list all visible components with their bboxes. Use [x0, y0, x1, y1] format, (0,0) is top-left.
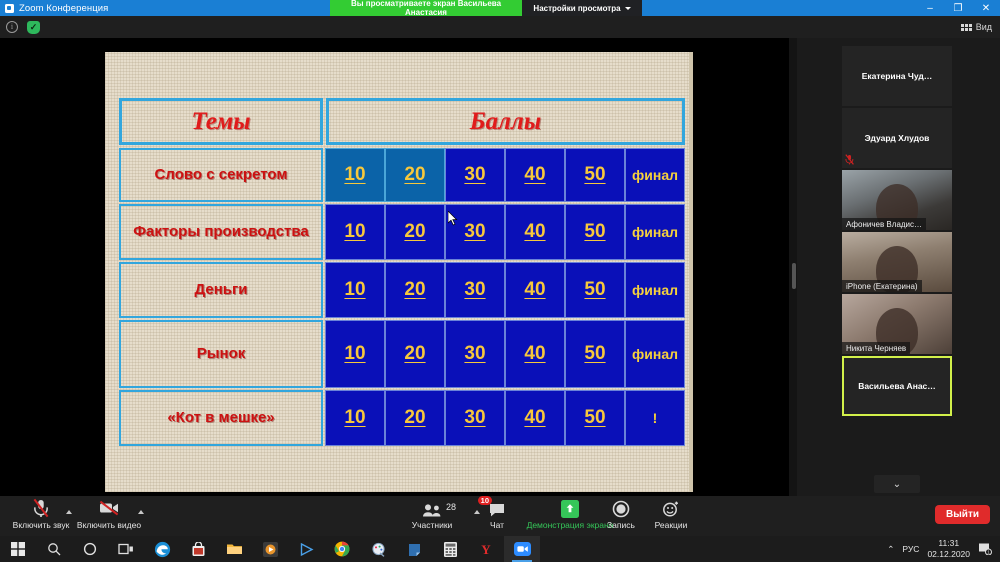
points-cell[interactable]: 50 [565, 320, 625, 388]
window-controls: – ❐ ✕ [916, 0, 1000, 16]
cell-value: 10 [344, 164, 365, 186]
points-cell[interactable]: 10 [325, 148, 385, 202]
cell-value: 20 [404, 221, 425, 243]
cell-value: 30 [464, 407, 485, 429]
cell-value: 20 [404, 407, 425, 429]
theme-cell[interactable]: Слово с секретом [119, 148, 323, 202]
participant-name: Эдуард Хлудов [842, 108, 952, 168]
view-options-button[interactable]: Настройки просмотра [522, 0, 642, 16]
close-button[interactable]: ✕ [972, 0, 1000, 16]
theme-cell[interactable]: Деньги [119, 262, 323, 318]
cell-value: 50 [584, 279, 605, 301]
chat-label: Чат [490, 520, 504, 530]
grid-view-icon [961, 24, 972, 31]
cell-value: 50 [584, 407, 605, 429]
media-player-icon[interactable] [252, 536, 288, 562]
restore-button[interactable]: ❐ [944, 0, 972, 16]
clock-time: 11:31 [938, 538, 959, 549]
system-tray: ⌃ РУС 11:31 02.12.2020 1 [887, 538, 1000, 560]
points-cell[interactable]: 20 [385, 262, 445, 318]
leave-meeting-button[interactable]: Выйти [935, 505, 990, 524]
participant-tile[interactable]: Васильева Анас… [842, 356, 952, 416]
svg-text:Y: Y [481, 542, 491, 557]
view-options-label: Настройки просмотра [533, 4, 620, 13]
view-button[interactable]: Вид [961, 22, 992, 32]
zoom-icon[interactable] [504, 536, 540, 562]
window-title-bar: Zoom Конференция Вы просматриваете экран… [0, 0, 1000, 16]
view-button-label: Вид [976, 22, 992, 32]
cell-value: 30 [464, 343, 485, 365]
zoom-meeting-window: Zoom Конференция Вы просматриваете экран… [0, 0, 1000, 562]
cell-value: 20 [404, 164, 425, 186]
participant-video-panel: Екатерина Чуд…Эдуард ХлудовАфоничев Влад… [797, 38, 1000, 496]
points-cell[interactable]: 10 [325, 320, 385, 388]
participants-label: Участники [412, 520, 453, 530]
encryption-shield-icon[interactable] [27, 21, 40, 34]
window-title: Zoom Конференция [19, 3, 108, 14]
cell-value: 30 [464, 279, 485, 301]
participant-name: Афоничев Владис… [842, 218, 926, 230]
participant-tile[interactable]: Никита Черняев [842, 294, 952, 354]
cell-value: 40 [524, 221, 545, 243]
participant-tile[interactable]: Афоничев Владис… [842, 170, 952, 230]
board-row: Слово с секретом1020304050финал [119, 148, 685, 202]
cell-value: 50 [584, 221, 605, 243]
chevron-down-icon [625, 7, 631, 10]
screen-share-banner: Вы просматриваете экран Васильева Анаста… [330, 0, 522, 16]
start-icon[interactable] [0, 536, 36, 562]
cell-value: 30 [464, 164, 485, 186]
points-cell[interactable]: 50 [565, 204, 625, 260]
participants-button[interactable]: 28 Участники [395, 498, 469, 530]
cell-value: финал [632, 224, 678, 240]
edge-icon[interactable] [144, 536, 180, 562]
points-cell[interactable]: 50 [565, 390, 625, 446]
points-cell[interactable]: 30 [445, 262, 505, 318]
share-screen-icon [561, 498, 579, 518]
participant-tile[interactable]: Эдуард Хлудов [842, 108, 952, 168]
theme-cell[interactable]: «Кот в мешке» [119, 390, 323, 446]
participant-name: Екатерина Чуд… [842, 46, 952, 106]
meeting-sub-bar: i Вид [0, 16, 1000, 38]
reactions-label: Реакции [655, 520, 688, 530]
cell-value: 10 [344, 221, 365, 243]
unmute-label: Включить звук [13, 520, 70, 530]
header-themes: Темы [119, 98, 323, 145]
zoom-app-icon [5, 4, 14, 13]
meeting-toolbar: Включить звук Включить видео 28 Участник… [0, 496, 1000, 536]
mic-muted-icon [32, 498, 50, 518]
store-icon[interactable] [180, 536, 216, 562]
calculator-icon[interactable] [432, 536, 468, 562]
cell-value: финал [632, 282, 678, 298]
cell-value: 30 [464, 221, 485, 243]
final-cell[interactable]: финал [625, 204, 685, 260]
unmute-button[interactable]: Включить звук [4, 498, 78, 530]
yandex-icon[interactable]: Y [468, 536, 504, 562]
cell-value: 20 [404, 343, 425, 365]
participant-name: iPhone (Екатерина) [842, 280, 922, 292]
theme-cell[interactable]: Рынок [119, 320, 323, 388]
participant-name: Васильева Анас… [842, 356, 952, 416]
cortana-icon[interactable] [72, 536, 108, 562]
cell-value: финал [632, 167, 678, 183]
windows-taskbar: Y ⌃ РУС 11:31 02.12.2020 1 [0, 536, 1000, 562]
chat-unread-badge: 10 [478, 496, 492, 505]
camera-off-icon [98, 498, 120, 518]
start-video-button[interactable]: Включить видео [72, 498, 146, 530]
points-cell[interactable]: 10 [325, 204, 385, 260]
file-explorer-icon[interactable] [216, 536, 252, 562]
cell-value: 50 [584, 343, 605, 365]
cell-value: 40 [524, 343, 545, 365]
panel-scroll-down-button[interactable]: ⌄ [874, 475, 920, 493]
record-icon [612, 498, 630, 518]
panel-resize-handle[interactable] [789, 38, 797, 496]
shared-screen-area[interactable]: Темы Баллы Слово с секретом1020304050фин… [0, 38, 790, 496]
board-header-row: Темы Баллы [119, 98, 685, 145]
cell-value: ! [653, 410, 658, 426]
cell-value: 20 [404, 279, 425, 301]
header-points: Баллы [326, 98, 685, 145]
sticky-notes-icon[interactable] [396, 536, 432, 562]
movies-tv-icon[interactable] [288, 536, 324, 562]
mic-muted-icon [845, 154, 854, 165]
board-row: Рынок1020304050финал [119, 320, 685, 388]
presentation-slide: Темы Баллы Слово с секретом1020304050фин… [105, 52, 693, 492]
cell-value: 10 [344, 343, 365, 365]
participants-count: 28 [446, 502, 456, 512]
points-cell[interactable]: 40 [505, 320, 565, 388]
points-cell[interactable]: 40 [505, 262, 565, 318]
theme-cell[interactable]: Факторы производства [119, 204, 323, 260]
reactions-icon [662, 498, 680, 518]
points-cell[interactable]: 40 [505, 390, 565, 446]
points-cell[interactable]: 40 [505, 148, 565, 202]
points-cell[interactable]: 30 [445, 320, 505, 388]
points-cell[interactable]: 20 [385, 204, 445, 260]
participant-tile[interactable]: Екатерина Чуд… [842, 46, 952, 106]
points-cell[interactable]: 50 [565, 148, 625, 202]
points-cell[interactable]: 10 [325, 390, 385, 446]
notification-icon[interactable]: 1 [978, 542, 992, 557]
cell-value: 50 [584, 164, 605, 186]
cell-value: 40 [524, 407, 545, 429]
clock[interactable]: 11:31 02.12.2020 [927, 538, 970, 560]
cell-value: 40 [524, 279, 545, 301]
participants-icon: 28 [422, 498, 442, 518]
search-icon[interactable] [36, 536, 72, 562]
jeopardy-board: Темы Баллы Слово с секретом1020304050фин… [119, 98, 685, 446]
cell-value: финал [632, 346, 678, 362]
board-row: «Кот в мешке»1020304050! [119, 390, 685, 446]
clock-date: 02.12.2020 [927, 549, 970, 560]
participant-tile[interactable]: iPhone (Екатерина) [842, 232, 952, 292]
final-cell[interactable]: ! [625, 390, 685, 446]
final-cell[interactable]: финал [625, 148, 685, 202]
paint-icon[interactable] [360, 536, 396, 562]
cell-value: 10 [344, 279, 365, 301]
points-cell[interactable]: 20 [385, 390, 445, 446]
start-video-label: Включить видео [77, 520, 141, 530]
points-cell[interactable]: 50 [565, 262, 625, 318]
record-label: Запись [607, 520, 635, 530]
video-settings-chevron[interactable] [138, 510, 144, 514]
board-row: Факторы производства1020304050финал [119, 204, 685, 260]
participant-name: Никита Черняев [842, 342, 910, 354]
tray-chevron-up-icon[interactable]: ⌃ [887, 544, 894, 555]
points-cell[interactable]: 10 [325, 262, 385, 318]
points-cell[interactable]: 40 [505, 204, 565, 260]
final-cell[interactable]: финал [625, 262, 685, 318]
board-rows: Слово с секретом1020304050финалФакторы п… [119, 148, 685, 446]
cell-value: 10 [344, 407, 365, 429]
points-cell[interactable]: 20 [385, 148, 445, 202]
language-indicator[interactable]: РУС [902, 544, 919, 554]
points-cell[interactable]: 30 [445, 148, 505, 202]
board-row: Деньги1020304050финал [119, 262, 685, 318]
mouse-cursor [448, 211, 458, 226]
cell-value: 40 [524, 164, 545, 186]
reactions-button[interactable]: Реакции [634, 498, 708, 530]
info-icon[interactable]: i [6, 21, 18, 33]
task-view-icon[interactable] [108, 536, 144, 562]
points-cell[interactable]: 30 [445, 390, 505, 446]
chrome-icon[interactable] [324, 536, 360, 562]
final-cell[interactable]: финал [625, 320, 685, 388]
points-cell[interactable]: 20 [385, 320, 445, 388]
chat-icon: 10 [488, 498, 506, 518]
minimize-button[interactable]: – [916, 0, 944, 16]
